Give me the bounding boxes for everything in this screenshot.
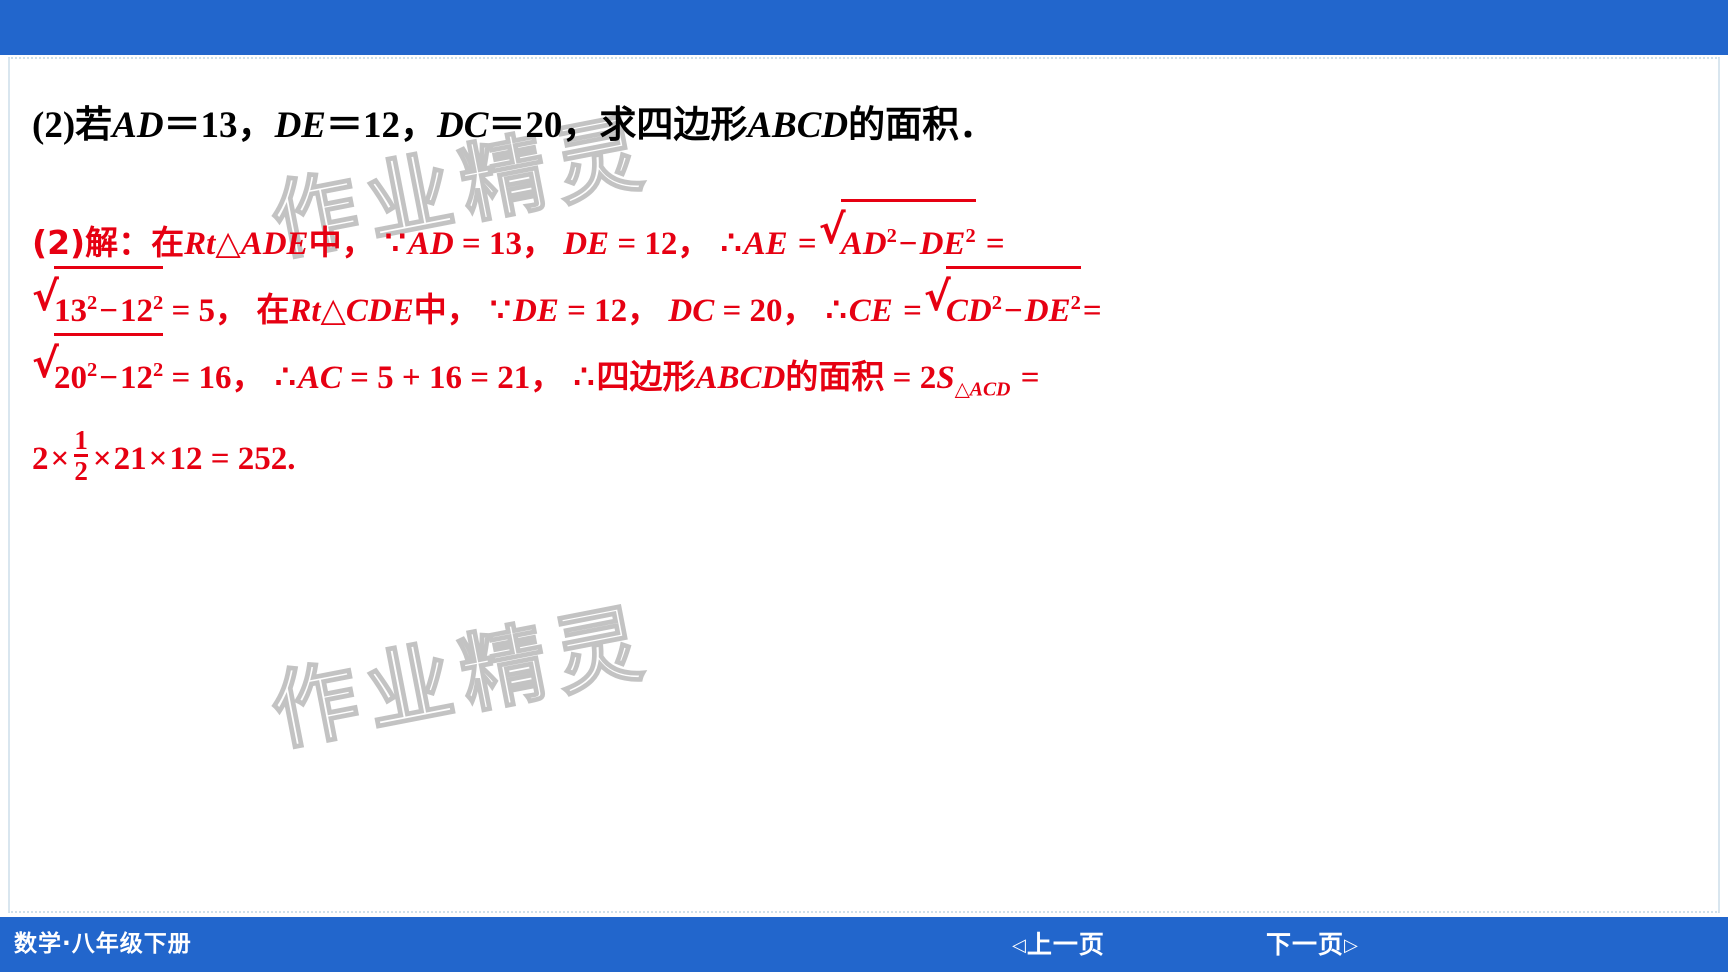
- a2-therefore: ∴: [824, 293, 849, 329]
- answer-block: (2)解：在Rt△ADE中， ∵AD = 13， DE = 12， ∴AE =A…: [32, 199, 1720, 493]
- a1-rad-ad: AD: [841, 226, 887, 262]
- question-ask: 求四边形: [599, 102, 747, 146]
- a2-rad-de2-exp: 2: [1071, 292, 1081, 314]
- a1-in: 在: [151, 223, 184, 262]
- question-eq2: ＝12，: [326, 105, 437, 146]
- a1-because: ∵: [383, 226, 408, 262]
- a2-zhong: 中，: [414, 290, 480, 329]
- a2-rt: Rt△: [289, 293, 346, 329]
- a1-rt: Rt△: [184, 226, 241, 262]
- bottom-blue-bar: 数学·八年级下册 ◁上一页 下一页▷: [0, 917, 1728, 972]
- a3-rad-20-exp: 2: [87, 359, 97, 381]
- a1-zhong: 中，: [309, 223, 375, 262]
- a2-tail-equals: =: [1081, 293, 1104, 329]
- a2-rad-13: 13: [54, 293, 87, 329]
- a2-de: DE: [513, 293, 559, 329]
- a1-triangle-ade: ADE: [241, 226, 309, 262]
- a2-in: 在: [256, 290, 289, 329]
- a3-quadrilateral: ABCD: [696, 360, 786, 396]
- a1-ae: AE: [744, 226, 788, 262]
- a3-area-symbol: S: [936, 360, 954, 396]
- a1-de-value: = 12，: [617, 226, 710, 262]
- a3-rad-20: 20: [54, 360, 87, 396]
- a2-dc: DC: [668, 293, 714, 329]
- answer-line-3: 202−122 = 16， ∴AC = 5 + 16 = 21， ∴四边形ABC…: [32, 333, 1720, 400]
- a2-because: ∵: [488, 293, 513, 329]
- a3-rad-12: 12: [120, 360, 153, 396]
- question-text: (2)若AD＝13，DE＝12，DC＝20，求四边形ABCD的面积．: [32, 94, 996, 148]
- top-blue-bar: [0, 0, 1728, 55]
- a2-rad-cd: CD: [946, 293, 992, 329]
- a4-fraction-half: 12: [74, 426, 88, 486]
- slide-content-area: 作业精灵 作业精灵 (2)若AD＝13，DE＝12，DC＝20，求四边形ABCD…: [8, 57, 1720, 913]
- a2-ce: CE: [849, 293, 893, 329]
- a1-rad-de-exp: 2: [965, 225, 975, 247]
- a3-area-subscript: △ACD: [955, 379, 1011, 401]
- footer-book-title: 数学·八年级下册: [14, 917, 192, 972]
- watermark-bottom: 作业精灵: [260, 572, 661, 768]
- a3-therefore: ∴: [273, 360, 298, 396]
- prev-page-button[interactable]: ◁上一页: [1012, 917, 1105, 972]
- next-page-button[interactable]: 下一页▷: [1266, 917, 1359, 972]
- a2-equals-5: = 5，: [172, 293, 249, 329]
- a3-ac-value: = 5 + 16 = 21，: [350, 360, 563, 396]
- a2-rad-de2: DE: [1025, 293, 1071, 329]
- a3-ac: AC: [298, 360, 342, 396]
- a2-rad-12: 12: [120, 293, 153, 329]
- a1-tail-equals: =: [984, 226, 1007, 262]
- question-segment-ad: AD: [112, 105, 163, 146]
- a3-equals-2: = 2: [893, 360, 937, 396]
- question-segment-dc: DC: [437, 105, 488, 146]
- question-eq3: ＝20，: [488, 105, 599, 146]
- a3-quadrilateral-cjk: 四边形: [597, 357, 696, 396]
- a4-times-3: ×: [147, 441, 170, 477]
- a4-fraction-numerator: 1: [74, 426, 88, 454]
- a3-rad-minus: −: [97, 360, 120, 396]
- question-quadrilateral: ABCD: [747, 105, 848, 146]
- next-arrow-icon: ▷: [1344, 935, 1359, 956]
- a4-fraction-denominator: 2: [74, 454, 88, 485]
- prev-page-label: 上一页: [1027, 930, 1105, 959]
- question-tail: 的面积．: [848, 102, 996, 146]
- a1-ad-value: = 13，: [462, 226, 555, 262]
- a2-rad-13-exp: 2: [87, 292, 97, 314]
- slide-page: 作业精灵 作业精灵 (2)若AD＝13，DE＝12，DC＝20，求四边形ABCD…: [0, 0, 1728, 972]
- answer-line-4: 2×12×21×12 = 252.: [32, 426, 1720, 493]
- a4-value-21: 21: [114, 441, 147, 477]
- prev-arrow-icon: ◁: [1012, 935, 1027, 956]
- a1-de: DE: [563, 226, 609, 262]
- a3-therefore-2: ∴: [572, 360, 597, 396]
- a2-equals: =: [901, 293, 924, 329]
- a2-dc-value: = 20，: [722, 293, 815, 329]
- a2-radical-2: CD2−DE2: [924, 266, 1081, 345]
- a3-rad-12-exp: 2: [153, 359, 163, 381]
- a2-rad-12-exp: 2: [153, 292, 163, 314]
- a3-equals-16: = 16，: [172, 360, 265, 396]
- a3-radical: 202−122: [32, 333, 163, 412]
- a2-rad-minus-1: −: [97, 293, 120, 329]
- a1-ad: AD: [408, 226, 454, 262]
- answer-line-1: (2)解：在Rt△ADE中， ∵AD = 13， DE = 12， ∴AE =A…: [32, 199, 1720, 266]
- a4-value-12: 12: [169, 441, 202, 477]
- a2-rad-cd-exp: 2: [992, 292, 1002, 314]
- a1-equals: =: [796, 226, 819, 262]
- a2-triangle-cde: CDE: [346, 293, 414, 329]
- a3-tail-equals: =: [1019, 360, 1042, 396]
- a4-result: = 252.: [211, 441, 296, 477]
- answer-label: (2)解：: [32, 223, 151, 262]
- a2-rad-minus-2: −: [1002, 293, 1025, 329]
- question-prefix: 若: [75, 102, 112, 146]
- a1-rad-de: DE: [920, 226, 966, 262]
- a4-two: 2: [32, 441, 49, 477]
- question-eq1: ＝13，: [164, 105, 275, 146]
- a4-times-1: ×: [49, 441, 72, 477]
- a2-de-value: = 12，: [567, 293, 660, 329]
- question-segment-de: DE: [275, 105, 326, 146]
- next-page-label: 下一页: [1266, 930, 1344, 959]
- a1-rad-ad-exp: 2: [887, 225, 897, 247]
- a3-area-cjk: 的面积: [785, 357, 884, 396]
- a4-times-2: ×: [91, 441, 114, 477]
- question-label: (2): [32, 105, 75, 146]
- a1-therefore: ∴: [719, 226, 744, 262]
- a1-rad-minus: −: [897, 226, 920, 262]
